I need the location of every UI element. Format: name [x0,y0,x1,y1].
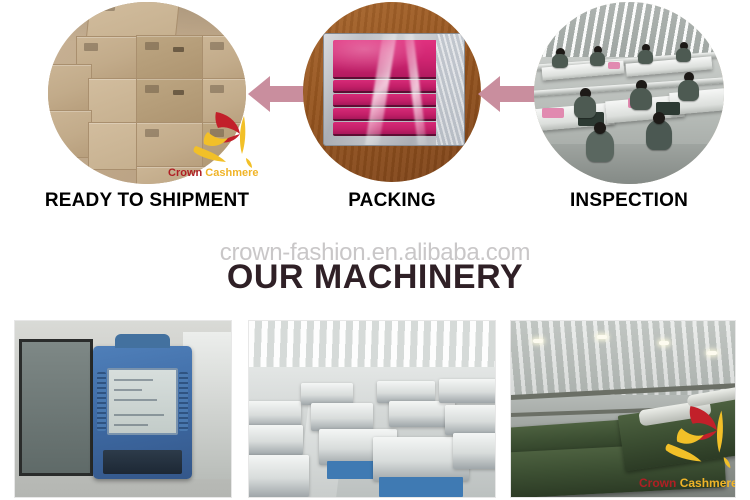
worker [590,52,605,66]
screen-text-line [114,424,148,426]
panel-ready-to-shipment: Crown Cashmere READY TO SHIPMENT [48,2,246,214]
factory-floor [534,144,724,184]
worker [630,88,652,110]
ceiling-lamp [707,351,717,355]
panel-inspection: INSPECTION [534,2,724,214]
ceiling-lamp [533,339,543,343]
carton [88,78,140,124]
arrow-inspection-to-packing [478,72,536,116]
hall-ceiling [249,321,495,367]
knitting-machine [453,433,496,469]
folded-sweater [333,80,437,93]
panel-packing: PACKING [303,2,481,214]
control-panel-screen[interactable] [107,368,179,435]
logo-brand-first: Crown Cashmere [639,477,736,489]
carton-marking [145,42,159,50]
worker [638,50,653,64]
arrow-left-icon [248,72,306,116]
carton [136,35,204,81]
carton-marking [210,85,224,93]
control-panel-body [93,346,192,480]
worker [646,120,672,150]
logo-brand-first: Crown Cashmere [168,168,259,179]
panel-lower-bay [103,450,182,474]
machine-base [379,477,463,497]
carton [202,35,246,81]
folded-sweater [333,40,437,79]
carton-marking [145,85,159,93]
worker [653,112,665,124]
bag-crinkle-edge [436,34,464,145]
screen-text-line [114,379,153,381]
screen-text-line [114,399,157,401]
knitting-machine [377,381,435,403]
folded-sweater [333,108,437,121]
knitting-machine [311,403,373,431]
worker [676,48,691,62]
panel-vent [179,372,188,431]
garment-fabric [608,62,620,69]
screen-text-line [114,414,164,416]
worker [586,130,614,162]
worker [574,96,596,118]
arrow-left-icon [478,72,536,116]
knitting-machine [248,455,309,497]
crown-cashmere-watermark: Crown Cashmere [635,395,736,495]
control-panel-handle [115,334,171,349]
knitting-machine [445,405,496,435]
label-inspection: INSPECTION [509,190,749,212]
panel-vent [97,372,106,431]
folded-sweater [333,94,437,107]
carton-marking [145,129,159,137]
arrow-packing-to-shipment [248,72,306,116]
crown-flame-icon [166,106,258,172]
crown-cashmere-watermark: Crown Cashmere [166,106,258,186]
product-collage-page: Crown Cashmere READY TO SHIPMENT [0,0,750,500]
carton [48,64,92,112]
ceiling-lamp [597,335,607,339]
knitting-machine [248,425,303,455]
carton-marking [210,42,224,50]
photo-dyeing-machine-hall: Crown Cashmere [510,320,736,498]
photo-packing [303,2,481,182]
photo-knitting-machine-hall [248,320,496,498]
worker [552,54,568,68]
worker [678,80,699,101]
crown-flame-icon [635,395,736,477]
carton [88,122,140,170]
sweater-stack [333,40,437,138]
plastic-sheeting-wall [511,321,735,395]
knitting-machine [439,379,496,403]
knitting-machine [248,401,301,427]
carton [48,110,92,158]
carton-marking-secondary [173,90,184,95]
carton-marking [84,43,98,51]
photo-inspection [534,2,724,184]
carton-marking-secondary [173,47,184,52]
folded-sweater [333,122,437,137]
garment-fabric [542,108,564,118]
poly-bag [323,33,465,146]
label-ready-to-shipment: READY TO SHIPMENT [18,190,276,212]
knitting-machine [301,383,353,405]
label-packing: PACKING [283,190,501,212]
worker [594,122,606,134]
photo-machine-control-panel [14,320,232,498]
section-title: OUR MACHINERY [0,258,750,297]
screen-text-line [114,389,142,391]
ceiling-lamp [659,341,669,345]
carton-marking [100,3,115,11]
machine-window-frame [19,339,92,476]
